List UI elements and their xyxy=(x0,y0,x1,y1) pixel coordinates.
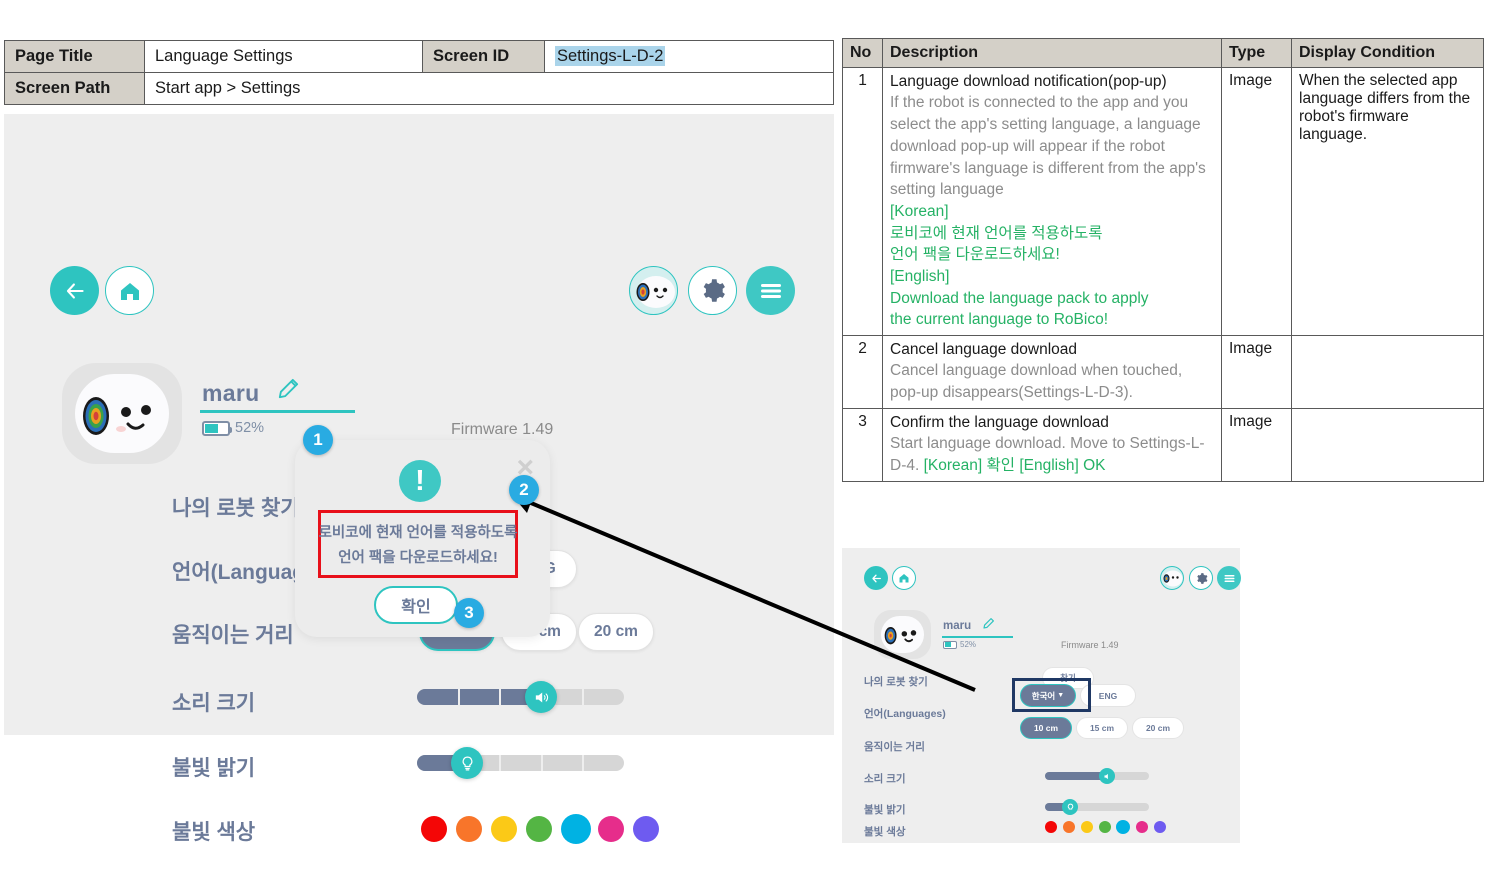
mini-language-highlight-box xyxy=(1012,678,1091,712)
mini-brightness-slider[interactable] xyxy=(1045,803,1149,811)
spec-value-screen-path: Start app > Settings xyxy=(145,73,834,105)
callout-badge-2: 2 xyxy=(509,475,539,505)
popup-confirm-button[interactable]: 확인 xyxy=(374,586,458,624)
device-avatar xyxy=(62,363,182,464)
mini-avatar-face xyxy=(881,616,924,653)
row-condition xyxy=(1292,408,1484,481)
firmware-version: Firmware 1.49 xyxy=(451,421,553,439)
brightness-slider[interactable] xyxy=(417,755,624,771)
robot-face-icon xyxy=(881,616,924,653)
row-green-line: 로비코에 현재 언어를 적용하도록 xyxy=(890,223,1214,245)
color-swatch-orange[interactable] xyxy=(456,816,482,842)
battery-indicator: 52% xyxy=(202,420,264,436)
row-green-line: 언어 팩을 다운로드하세요! xyxy=(890,244,1214,266)
column-header-description: Description xyxy=(883,39,1222,68)
row-description-title: Language download notification(pop-up) xyxy=(890,72,1214,92)
brightness-slider-knob[interactable] xyxy=(451,747,483,779)
row-no: 2 xyxy=(843,336,883,409)
hamburger-menu-button[interactable] xyxy=(746,266,795,315)
mini-back-button[interactable] xyxy=(864,566,888,590)
color-swatch-yellow[interactable] xyxy=(491,816,517,842)
mini-edit-name-button[interactable] xyxy=(982,616,996,635)
robot-avatar-icon xyxy=(1161,567,1183,589)
mini-battery-percent: 52% xyxy=(960,640,976,649)
popup-message-highlight: 로비코에 현재 언어를 적용하도록 언어 팩을 다운로드하세요! xyxy=(318,510,518,578)
mini-home-button[interactable] xyxy=(892,566,916,590)
row-description-sub: Cancel language download when touched, p… xyxy=(890,360,1214,403)
device-name: maru xyxy=(202,380,259,407)
back-arrow-icon xyxy=(870,572,883,585)
row-condition: When the selected app language differs f… xyxy=(1292,68,1484,336)
callout-badge-3: 3 xyxy=(454,598,484,628)
column-header-no: No xyxy=(843,39,883,68)
setting-label-find-robot: 나의 로봇 찾기 xyxy=(172,492,300,522)
avatar-face xyxy=(75,374,169,453)
mini-volume-slider[interactable] xyxy=(1045,772,1149,780)
column-header-condition: Display Condition xyxy=(1292,39,1484,68)
popup-message-line2: 언어 팩을 다운로드하세요! xyxy=(338,546,498,567)
exclamation-icon: ! xyxy=(399,460,441,502)
spec-row-screen-path: Screen Path Start app > Settings xyxy=(5,73,834,105)
spec-label-screen-id: Screen ID xyxy=(423,41,545,73)
language-download-popup: ! × 로비코에 현재 언어를 적용하도록 언어 팩을 다운로드하세요! 확인 xyxy=(295,440,550,637)
mini-device-name: maru xyxy=(943,620,971,632)
table-header-row: No Description Type Display Condition xyxy=(843,39,1484,68)
mini-brightness-slider-knob[interactable] xyxy=(1062,799,1078,815)
mini-setting-label-brightness: 불빛 밝기 xyxy=(864,802,906,817)
spec-value-screen-id: Settings-L-D-2 xyxy=(555,46,665,66)
spec-label-page-title: Page Title xyxy=(5,41,145,73)
mini-setting-label-find-robot: 나의 로봇 찾기 xyxy=(864,674,928,689)
robot-face-icon xyxy=(75,374,169,453)
row-green-line: Download the language pack to apply xyxy=(890,288,1214,310)
volume-icon xyxy=(533,689,550,706)
back-button[interactable] xyxy=(50,266,99,315)
hamburger-menu-icon xyxy=(758,281,784,301)
row-description-title: Cancel language download xyxy=(890,340,1214,360)
slider-tick xyxy=(582,689,584,705)
color-swatch-cyan[interactable] xyxy=(561,814,591,844)
device-name-underline xyxy=(200,410,355,413)
gear-icon xyxy=(1195,572,1208,585)
mini-color-swatch-red[interactable] xyxy=(1045,821,1057,833)
row-type: Image xyxy=(1222,408,1292,481)
mini-distance-chip-20cm[interactable]: 20 cm xyxy=(1132,717,1184,739)
setting-label-volume: 소리 크기 xyxy=(172,687,255,717)
row-type: Image xyxy=(1222,68,1292,336)
pencil-edit-icon xyxy=(276,375,302,401)
mini-setting-label-distance: 움직이는 거리 xyxy=(864,739,925,754)
hamburger-menu-icon xyxy=(1223,573,1236,584)
mini-color-swatch-yellow[interactable] xyxy=(1081,821,1093,833)
battery-fill xyxy=(945,642,951,647)
setting-label-brightness: 불빛 밝기 xyxy=(172,752,255,782)
description-table: No Description Type Display Condition 1 … xyxy=(842,38,1484,482)
color-swatch-purple[interactable] xyxy=(633,816,659,842)
slider-tick xyxy=(582,755,584,771)
back-arrow-icon xyxy=(62,278,88,304)
battery-charging-icon xyxy=(943,641,957,649)
reference-screenshot-thumbnail: maru 52% Firmware 1.49 나의 로봇 찾기 언어(Langu… xyxy=(842,548,1240,843)
row-description-sub: If the robot is connected to the app and… xyxy=(890,92,1214,200)
volume-slider[interactable] xyxy=(417,689,624,705)
mini-color-swatch-cyan[interactable] xyxy=(1116,820,1130,834)
table-row: 3 Confirm the language download Start la… xyxy=(843,408,1484,481)
battery-nub xyxy=(229,427,232,433)
volume-icon xyxy=(1103,772,1112,781)
spec-value-screen-id-cell: Settings-L-D-2 xyxy=(545,41,834,73)
mini-hamburger-menu-button[interactable] xyxy=(1217,566,1241,590)
color-swatch-green[interactable] xyxy=(526,816,552,842)
settings-button[interactable] xyxy=(688,266,737,315)
mini-color-swatch-pink[interactable] xyxy=(1136,821,1148,833)
mini-device-avatar xyxy=(874,610,931,659)
slider-tick xyxy=(499,689,501,705)
gear-icon xyxy=(699,277,726,304)
brightness-bulb-icon xyxy=(1066,803,1075,812)
row-description-sub: Start language download. Move to Setting… xyxy=(890,433,1214,476)
edit-name-button[interactable] xyxy=(276,375,302,406)
mini-setting-label-light-color: 불빛 색상 xyxy=(864,824,906,839)
mini-color-swatch-purple[interactable] xyxy=(1154,821,1166,833)
robot-avatar-icon xyxy=(632,269,676,313)
app-screen-mockup: maru 52% Firmware 1.49 나의 로봇 찾기 언어(Langu… xyxy=(4,114,834,735)
row-green-inline: [Korean] 확인 [English] OK xyxy=(924,457,1106,474)
screenshot-root: Page Title Language Settings Screen ID S… xyxy=(0,0,1487,895)
slider-tick xyxy=(541,755,543,771)
battery-fill xyxy=(205,424,218,433)
mini-volume-slider-knob[interactable] xyxy=(1099,768,1115,784)
mini-color-swatch-orange[interactable] xyxy=(1063,821,1075,833)
row-no: 1 xyxy=(843,68,883,336)
setting-label-distance: 움직이는 거리 xyxy=(172,619,294,649)
volume-slider-fill xyxy=(417,689,541,705)
slider-tick xyxy=(458,689,460,705)
row-description: Cancel language download Cancel language… xyxy=(883,336,1222,409)
row-description: Language download notification(pop-up) I… xyxy=(883,68,1222,336)
row-green-line: the current language to RoBico! xyxy=(890,309,1214,331)
mini-firmware-version: Firmware 1.49 xyxy=(1061,640,1119,650)
mini-battery-indicator: 52% xyxy=(943,640,976,649)
column-header-type: Type xyxy=(1222,39,1292,68)
setting-label-light-color: 불빛 색상 xyxy=(172,816,255,846)
battery-charging-icon xyxy=(202,421,230,436)
table-row: 1 Language download notification(pop-up)… xyxy=(843,68,1484,336)
brightness-bulb-icon xyxy=(459,755,476,772)
mini-device-name-underline xyxy=(942,636,1013,638)
row-condition xyxy=(1292,336,1484,409)
row-type: Image xyxy=(1222,336,1292,409)
color-swatch-pink[interactable] xyxy=(598,816,624,842)
pencil-edit-icon xyxy=(982,616,996,630)
mini-distance-chip-15cm[interactable]: 15 cm xyxy=(1076,717,1128,739)
mini-setting-label-language: 언어(Languages) xyxy=(864,706,946,721)
slider-tick xyxy=(499,755,501,771)
mini-distance-chip-10cm[interactable]: 10 cm xyxy=(1020,717,1072,739)
mini-color-swatch-green[interactable] xyxy=(1099,821,1111,833)
home-button[interactable] xyxy=(105,266,154,315)
volume-slider-knob[interactable] xyxy=(525,681,557,713)
table-row: 2 Cancel language download Cancel langua… xyxy=(843,336,1484,409)
robot-profile-button[interactable] xyxy=(629,266,678,315)
row-description-title: Confirm the language download xyxy=(890,413,1214,433)
home-icon xyxy=(898,572,910,584)
battery-percent: 52% xyxy=(235,420,264,436)
mini-robot-profile-button[interactable] xyxy=(1160,566,1184,590)
spec-label-screen-path: Screen Path xyxy=(5,73,145,105)
spec-row-page-title: Page Title Language Settings Screen ID S… xyxy=(5,41,834,73)
home-icon xyxy=(118,279,142,303)
mini-setting-label-volume: 소리 크기 xyxy=(864,771,906,786)
row-green-line: [Korean] xyxy=(890,201,1214,223)
popup-message-line1: 로비코에 현재 언어를 적용하도록 xyxy=(319,521,518,542)
callout-badge-1: 1 xyxy=(303,425,333,455)
mini-settings-button[interactable] xyxy=(1189,566,1213,590)
color-swatch-red[interactable] xyxy=(421,816,447,842)
row-no: 3 xyxy=(843,408,883,481)
distance-chip-20cm[interactable]: 20 cm xyxy=(578,613,654,651)
row-description: Confirm the language download Start lang… xyxy=(883,408,1222,481)
spec-header-table: Page Title Language Settings Screen ID S… xyxy=(4,40,834,105)
spec-value-page-title: Language Settings xyxy=(145,41,423,73)
row-green-line: [English] xyxy=(890,266,1214,288)
